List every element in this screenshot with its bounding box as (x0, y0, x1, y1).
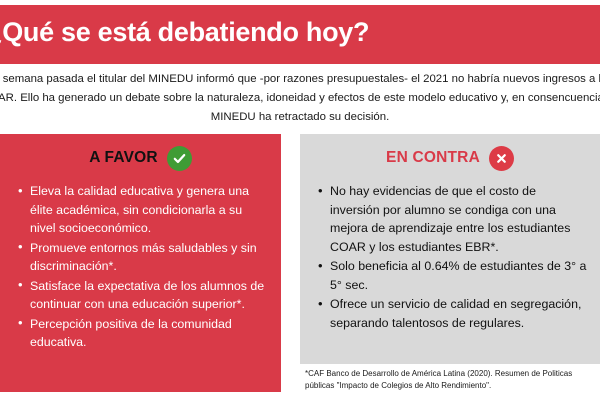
list-item: Eleva la calidad educativa y genera una … (30, 182, 269, 238)
a-favor-bullet-list: Eleva la calidad educativa y genera una … (0, 182, 281, 352)
check-circle-icon (167, 146, 192, 171)
intro-paragraph-container: La semana pasada el titular del MINEDU i… (0, 68, 600, 130)
panel-a-favor-label: A FAVOR (89, 149, 158, 167)
x-circle-icon (489, 146, 514, 171)
panel-en-contra-label: EN CONTRA (386, 149, 480, 167)
panel-en-contra-header: EN CONTRA (300, 134, 600, 182)
list-item: Percepción positiva de la comunidad educ… (30, 315, 269, 352)
list-item: No hay evidencias de que el costo de inv… (330, 182, 588, 256)
panel-a-favor: A FAVOR Eleva la calidad educativa y gen… (0, 134, 281, 392)
panel-a-favor-header: A FAVOR (0, 134, 281, 182)
list-item: Satisface la expectativa de los alumnos … (30, 277, 269, 314)
page-title: ¿Qué se está debatiendo hoy? (0, 17, 369, 48)
en-contra-bullet-list: No hay evidencias de que el costo de inv… (300, 182, 600, 332)
list-item: Solo beneficia al 0.64% de estudiantes d… (330, 257, 588, 294)
intro-paragraph: La semana pasada el titular del MINEDU i… (0, 70, 600, 127)
panel-en-contra: EN CONTRA No hay evidencias de que el co… (300, 134, 600, 364)
source-footnote: *CAF Banco de Desarrollo de América Lati… (300, 368, 600, 391)
list-item: Ofrece un servicio de calidad en segrega… (330, 295, 588, 332)
list-item: Promueve entornos más saludables y sin d… (30, 239, 269, 276)
header-band: ¿Qué se está debatiendo hoy? (0, 5, 600, 64)
